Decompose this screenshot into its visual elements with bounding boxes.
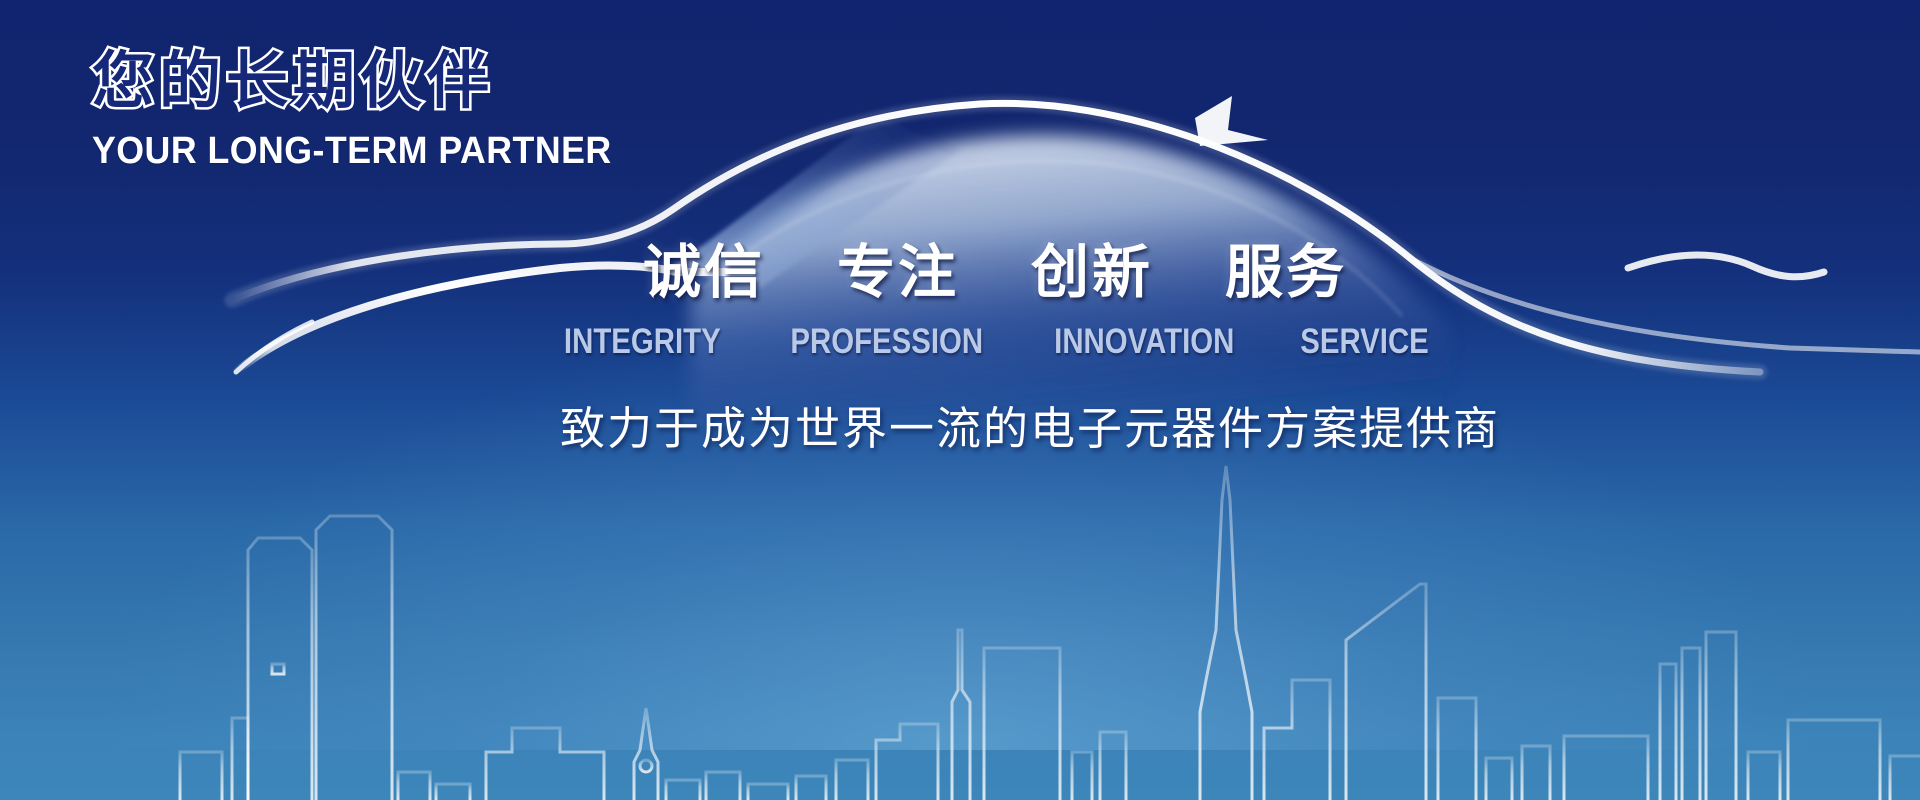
hero-banner: 您的长期伙伴 YOUR LONG-TERM PARTNER 诚信 专注 创新 服… — [0, 0, 1920, 800]
slogan-chinese-row: 诚信 专注 创新 服务 — [70, 244, 1920, 302]
headline-block: 您的长期伙伴 YOUR LONG-TERM PARTNER — [92, 48, 712, 173]
slogan-word-integrity-en: INTEGRITY — [564, 324, 721, 359]
slogan-word-innovation-cn: 创新 — [1031, 244, 1153, 302]
slogan-english-row: INTEGRITY PROFESSION INNOVATION SERVICE — [70, 324, 1920, 359]
tagline: 致力于成为世界一流的电子元器件方案提供商 — [70, 392, 1920, 457]
slogan-word-service-cn: 服务 — [1225, 244, 1347, 302]
headline-chinese: 您的长期伙伴 — [92, 48, 712, 116]
slogan-block: 诚信 专注 创新 服务 INTEGRITY PROFESSION INNOVAT… — [0, 244, 1920, 359]
slogan-word-integrity-cn: 诚信 — [643, 244, 765, 302]
slogan-word-service-en: SERVICE — [1300, 324, 1429, 359]
slogan-word-innovation-en: INNOVATION — [1054, 324, 1234, 359]
slogan-word-profession-en: PROFESSION — [790, 324, 983, 359]
slogan-word-profession-cn: 专注 — [837, 244, 959, 302]
headline-english: YOUR LONG-TERM PARTNER — [92, 130, 675, 173]
